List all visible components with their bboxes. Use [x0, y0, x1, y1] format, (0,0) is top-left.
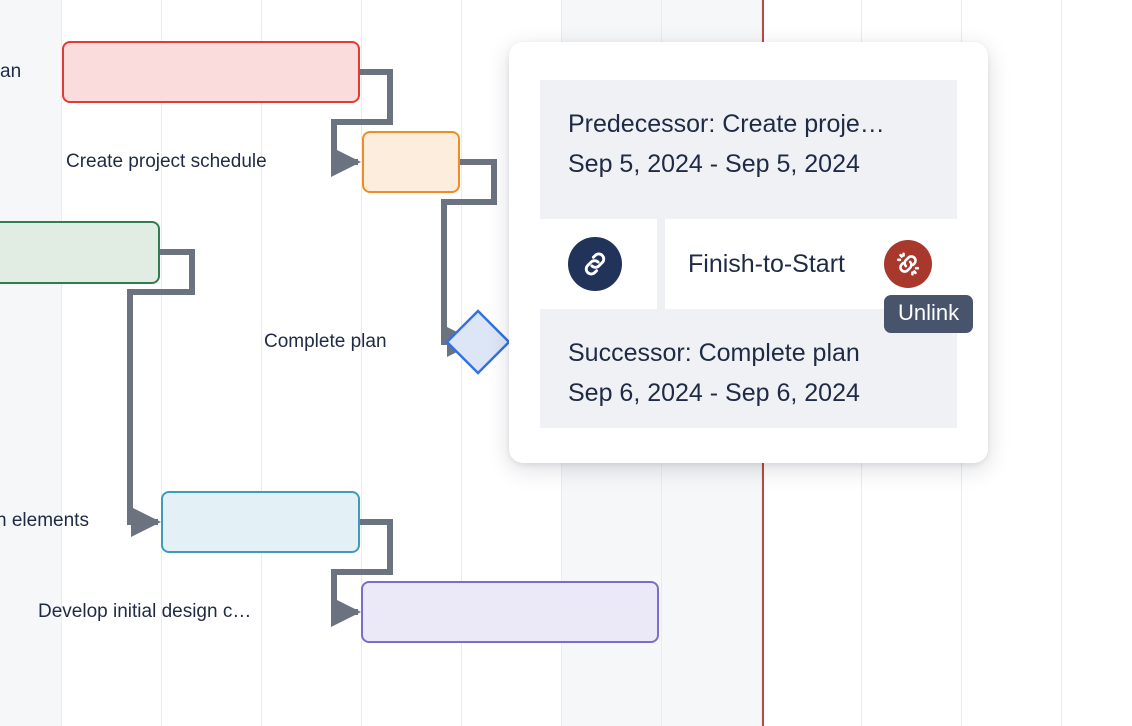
- dependency-popover[interactable]: Predecessor: Create proje… Sep 5, 2024 -…: [509, 42, 988, 463]
- unlink-tooltip: Unlink: [884, 295, 973, 333]
- link-glyph: [580, 249, 610, 279]
- gantt-chart-canvas: anCreate project scheduleComplete plann …: [0, 0, 1132, 726]
- task-label: an: [0, 61, 21, 83]
- successor-title: Successor: Complete plan: [568, 333, 929, 373]
- task-label: Create project schedule: [66, 151, 267, 173]
- task-bar[interactable]: [361, 581, 659, 643]
- task-bar[interactable]: [0, 221, 160, 284]
- task-bar[interactable]: [362, 131, 460, 193]
- task-label: Develop initial design c…: [38, 601, 251, 623]
- predecessor-dates: Sep 5, 2024 - Sep 5, 2024: [568, 144, 929, 184]
- unlink-button[interactable]: [884, 240, 932, 288]
- task-bar[interactable]: [161, 491, 360, 553]
- task-label: n elements: [0, 510, 89, 532]
- grid-line: [1061, 0, 1062, 726]
- task-bar[interactable]: [62, 41, 360, 103]
- link-icon[interactable]: [568, 237, 622, 291]
- successor-dates: Sep 6, 2024 - Sep 6, 2024: [568, 373, 929, 413]
- unlink-glyph: [894, 250, 922, 278]
- predecessor-block: Predecessor: Create proje… Sep 5, 2024 -…: [540, 80, 957, 219]
- dependency-type-label: Finish-to-Start: [688, 250, 845, 279]
- task-label: Complete plan: [264, 331, 387, 353]
- grid-line: [261, 0, 262, 726]
- predecessor-title: Predecessor: Create proje…: [568, 104, 929, 144]
